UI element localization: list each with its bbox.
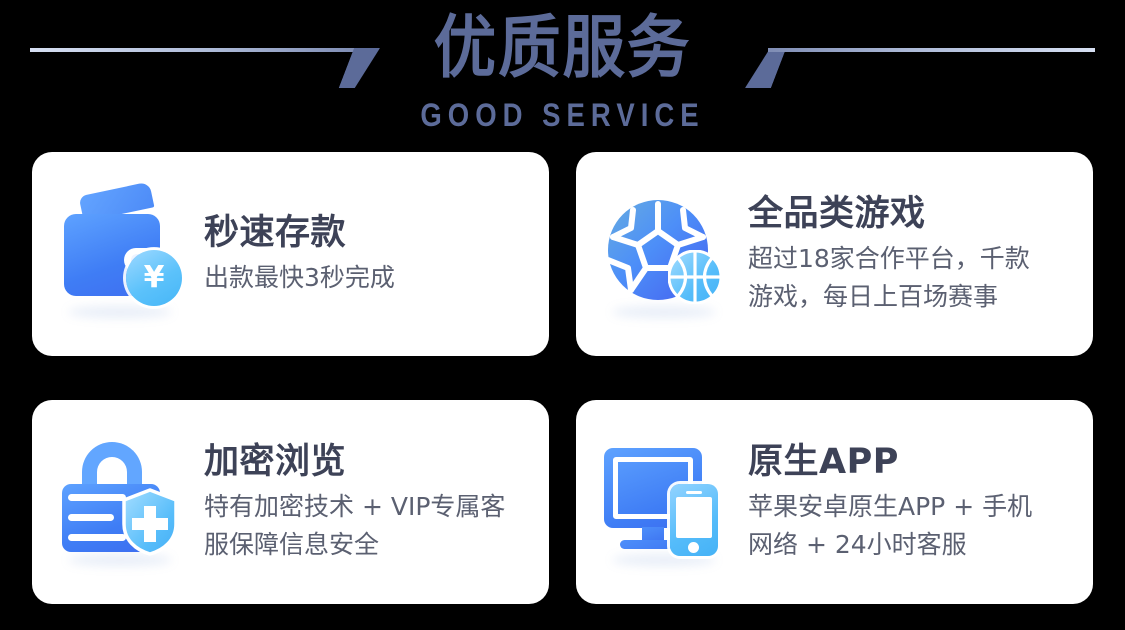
card-subtitle: 特有加密技术 + VIP专属客 服保障信息安全 <box>204 488 529 564</box>
phone-home-button <box>688 542 699 553</box>
wallet-yen-icon: ¥ <box>58 188 190 320</box>
card-subtitle-line-1: 出款最快3秒完成 <box>204 259 529 297</box>
lock-shield-icon <box>58 436 190 568</box>
mobile-phone-icon <box>670 484 718 556</box>
phone-screen <box>676 497 712 538</box>
shield-cross-icon <box>120 488 180 556</box>
card-title: 原生APP <box>748 440 1073 484</box>
card-text-block: 全品类游戏 超过18家合作平台，千款 游戏，每日上百场赛事 <box>748 192 1073 316</box>
card-text-block: 秒速存款 出款最快3秒完成 <box>204 211 529 297</box>
feature-card-deposit[interactable]: ¥ 秒速存款 出款最快3秒完成 <box>32 152 549 356</box>
card-subtitle-line-2: 游戏，每日上百场赛事 <box>748 278 1073 316</box>
card-subtitle-line-2: 网络 + 24小时客服 <box>748 526 1073 564</box>
card-subtitle-line-1: 特有加密技术 + VIP专属客 <box>204 488 529 526</box>
card-text-block: 加密浏览 特有加密技术 + VIP专属客 服保障信息安全 <box>204 440 529 564</box>
page-header: 优质服务 GOOD SERVICE <box>0 0 1125 150</box>
card-title: 加密浏览 <box>204 440 529 484</box>
icon-shadow <box>68 306 172 318</box>
card-title: 全品类游戏 <box>748 192 1073 236</box>
card-title: 秒速存款 <box>204 211 529 255</box>
card-subtitle-line-1: 超过18家合作平台，千款 <box>748 240 1073 278</box>
card-subtitle-line-1: 苹果安卓原生APP + 手机 <box>748 488 1073 526</box>
lock-stripe <box>68 494 126 501</box>
feature-card-native-app[interactable]: 原生APP 苹果安卓原生APP + 手机 网络 + 24小时客服 <box>576 400 1093 604</box>
lock-stripe <box>68 534 126 541</box>
feature-card-encryption[interactable]: 加密浏览 特有加密技术 + VIP专属客 服保障信息安全 <box>32 400 549 604</box>
monitor-phone-icon <box>602 436 734 568</box>
card-text-block: 原生APP 苹果安卓原生APP + 手机 网络 + 24小时客服 <box>748 440 1073 564</box>
feature-card-games[interactable]: 全品类游戏 超过18家合作平台，千款 游戏，每日上百场赛事 <box>576 152 1093 356</box>
basketball-icon <box>668 250 722 304</box>
card-subtitle: 苹果安卓原生APP + 手机 网络 + 24小时客服 <box>748 488 1073 564</box>
yen-symbol: ¥ <box>126 250 182 306</box>
yen-coin-icon: ¥ <box>126 250 182 306</box>
feature-card-grid: ¥ 秒速存款 出款最快3秒完成 <box>32 152 1093 604</box>
page-subtitle: GOOD SERVICE <box>79 96 1047 134</box>
icon-shadow <box>612 306 716 318</box>
monitor-neck <box>642 527 664 541</box>
lock-stripe <box>68 514 114 521</box>
phone-speaker <box>686 491 702 494</box>
soccer-basketball-icon <box>602 188 734 320</box>
card-subtitle-line-2: 服保障信息安全 <box>204 526 529 564</box>
card-subtitle: 超过18家合作平台，千款 游戏，每日上百场赛事 <box>748 240 1073 316</box>
page-title: 优质服务 <box>45 6 1080 92</box>
